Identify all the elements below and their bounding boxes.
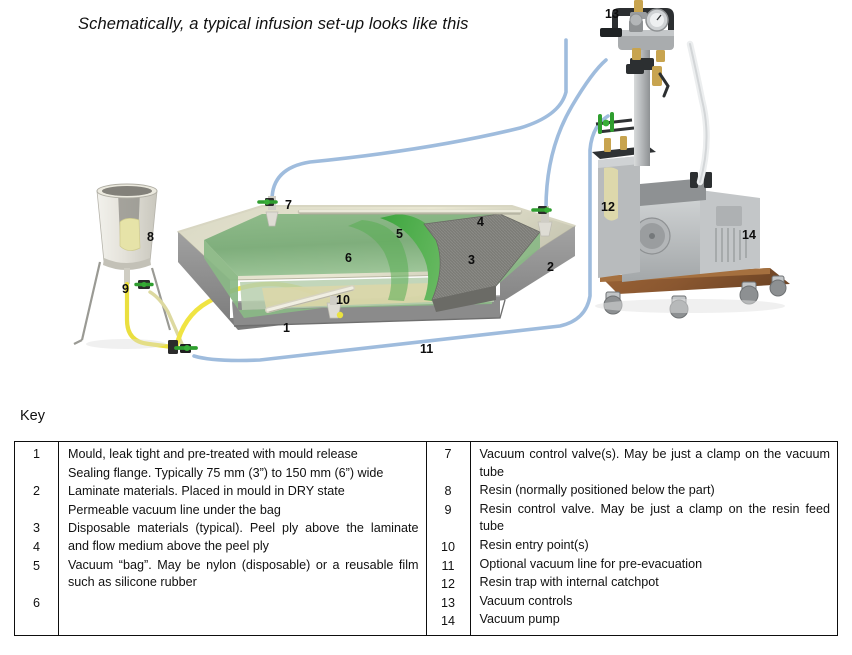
key-column-left: 1 2 3 4 5 6 Mould, leak tight and pre-tr… (15, 442, 426, 635)
key-right-numbers: 7 8 9 10 11 12 13 14 (427, 442, 471, 635)
key-right-texts: Vacuum control valve(s). May be just a c… (471, 442, 838, 635)
key-number: 3 (15, 519, 58, 538)
resin-fill (120, 218, 140, 250)
resin-trap-valves (596, 114, 634, 132)
key-entry-text: Sealing flange. Typically 75 mm (3”) to … (59, 464, 426, 483)
key-left-texts: Mould, leak tight and pre-treated with m… (59, 442, 426, 635)
key-entry-text: Vacuum controls (471, 592, 838, 611)
key-entry-text: Optional vacuum line for pre-evacuation (471, 555, 838, 574)
callout-13: 13 (605, 8, 619, 21)
callout-4: 4 (477, 216, 484, 229)
callout-11: 11 (420, 343, 433, 356)
key-column-right: 7 8 9 10 11 12 13 14 Vacuum control valv… (426, 442, 838, 635)
callout-1: 1 (283, 322, 290, 335)
resin-control-valve-icon (136, 280, 152, 289)
callout-2: 2 (547, 261, 554, 274)
mould-assembly (178, 206, 575, 330)
callout-12: 12 (601, 201, 615, 214)
vacuum-tube-secondary (546, 60, 606, 208)
key-number: 6 (15, 594, 58, 613)
permeable-vacuum-line (300, 211, 520, 214)
resin-pot-assembly (74, 184, 170, 344)
callout-6: 6 (345, 252, 352, 265)
key-number: 4 (15, 538, 58, 557)
callout-14: 14 (742, 229, 756, 242)
key-number: 12 (427, 575, 470, 594)
key-entry-text: Vacuum pump (471, 610, 838, 629)
pump-label-plate (716, 206, 742, 226)
callout-5: 5 (396, 228, 403, 241)
key-number: 5 (15, 557, 58, 576)
key-entry-text: Resin entry point(s) (471, 536, 838, 555)
key-number: 8 (427, 482, 470, 501)
key-number: 10 (427, 538, 470, 557)
vacuum-controls-assembly (600, 0, 674, 166)
key-entry-text: Resin (normally positioned below the par… (471, 481, 838, 500)
key-entry-text: Vacuum “bag”. May be nylon (disposable) … (59, 556, 426, 592)
callout-3: 3 (468, 254, 475, 267)
resin-tubing (127, 284, 182, 347)
vacuum-tube-main (272, 40, 566, 200)
key-number: 7 (427, 445, 470, 464)
callout-7: 7 (285, 199, 292, 212)
key-entry-text: Disposable materials (typical). Peel ply… (59, 519, 426, 555)
key-number: 2 (15, 482, 58, 501)
infusion-setup-diagram: 1 2 3 4 5 6 7 8 9 10 11 12 13 14 (0, 0, 852, 395)
key-entry-text: Laminate materials. Placed in mould in D… (59, 482, 426, 501)
key-number: 13 (427, 594, 470, 613)
key-entry-text: Resin control valve. May be just a clamp… (471, 500, 838, 536)
key-number: 1 (15, 445, 58, 464)
key-entry-text: Mould, leak tight and pre-treated with m… (59, 445, 426, 464)
key-heading: Key (20, 408, 45, 424)
key-entry-text: Permeable vacuum line under the bag (59, 501, 426, 520)
key-entry-text: Resin trap with internal catchpot (471, 573, 838, 592)
page-root: Schematically, a typical infusion set-up… (0, 0, 852, 655)
key-number: 11 (427, 557, 470, 576)
key-number: 14 (427, 612, 470, 631)
callout-8: 8 (147, 231, 154, 244)
key-entry-text: Vacuum control valve(s). May be just a c… (471, 445, 838, 481)
key-number: 9 (427, 501, 470, 520)
key-table: 1 2 3 4 5 6 Mould, leak tight and pre-tr… (14, 441, 838, 636)
callout-9: 9 (122, 283, 129, 296)
key-left-numbers: 1 2 3 4 5 6 (15, 442, 59, 635)
callout-10: 10 (336, 294, 350, 307)
